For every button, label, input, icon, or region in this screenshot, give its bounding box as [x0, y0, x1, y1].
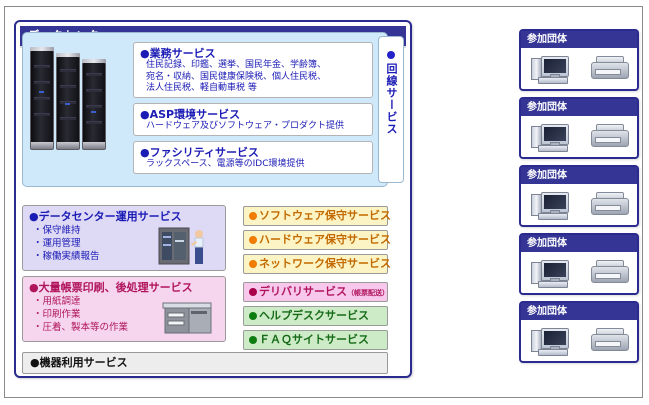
service-bar-software-maintenance-label: ソフトウェア保守サービス [259, 209, 391, 222]
service-card-asp: ●ASP環境サービス ハードウェア及びソフトウェア・プロダクト提供 [133, 103, 373, 136]
bullet-icon [249, 312, 257, 320]
service-bar-delivery-note: （帳票配送） [347, 289, 389, 297]
participant-box-4-devices [521, 252, 637, 293]
operation-box-datacenter-operation-title: ●データセンター運用サービス [29, 210, 219, 224]
equipment-use-service-label: ●機器利用サービス [30, 356, 128, 369]
desktop-computer-icon [531, 54, 571, 84]
participant-box-1-title: 参加団体 [521, 31, 637, 48]
bullet-icon [249, 336, 257, 344]
printer-icon [590, 328, 628, 354]
service-bar-hardware-maintenance-label: ハードウェア保守サービス [259, 233, 391, 246]
bullet-icon [249, 260, 257, 268]
participant-box-3-devices [521, 184, 637, 225]
service-bar-faq-site: ＦＡＱサイトサービス [243, 330, 388, 350]
participant-box-4: 参加団体 [519, 233, 639, 295]
printer-icon [590, 124, 628, 150]
service-bar-software-maintenance: ソフトウェア保守サービス [243, 206, 388, 226]
service-bar-delivery: デリバリサービス（帳票配送） [243, 282, 388, 302]
line-service-bullet-icon [387, 51, 395, 59]
operation-box-mass-printing: ●大量帳票印刷、後処理サービス ・用紙調達 ・印刷作業 ・圧着、製本等の作業 [22, 276, 226, 342]
service-card-facility-title: ●ファシリティサービス [140, 146, 366, 159]
desktop-computer-icon [531, 326, 571, 356]
equipment-use-service-bar: ●機器利用サービス [22, 352, 388, 374]
line-service-strip: 回線サービス [378, 36, 404, 183]
desktop-computer-icon [531, 122, 571, 152]
service-card-asp-line1: ハードウェア及びソフトウェア・プロダクト提供 [140, 121, 366, 133]
line-service-label: 回線サービス [383, 63, 399, 135]
service-card-gyomu-line1: 住民記録、印鑑、選挙、国民年金、学齢簿、 [140, 60, 366, 72]
participant-box-1: 参加団体 [519, 29, 639, 91]
participant-box-4-title: 参加団体 [521, 235, 637, 252]
service-card-facility-line1: ラックスペース、電源等のIDC環境提供 [140, 159, 366, 171]
printer-icon [590, 56, 628, 82]
service-card-gyomu-title: ●業務サービス [140, 47, 366, 60]
service-card-asp-title: ●ASP環境サービス [140, 108, 366, 121]
participant-box-2: 参加団体 [519, 97, 639, 159]
service-card-gyomu: ●業務サービス 住民記録、印鑑、選挙、国民年金、学齢簿、 宛名・収納、国民健康保… [133, 42, 373, 98]
participant-box-2-title: 参加団体 [521, 99, 637, 116]
printer-icon [590, 260, 628, 286]
service-card-gyomu-line2: 宛名・収納、国民健康保険税、個人住民税、 [140, 72, 366, 84]
service-bar-network-maintenance-label: ネットワーク保守サービス [259, 257, 391, 270]
participant-box-2-devices [521, 116, 637, 157]
service-card-gyomu-line3: 法人住民税、軽自動車税 等 [140, 83, 366, 95]
participant-box-1-devices [521, 48, 637, 89]
desktop-computer-icon [531, 258, 571, 288]
participant-box-5-title: 参加団体 [521, 303, 637, 320]
server-operator-icon [157, 224, 217, 266]
printing-machine-icon [157, 295, 217, 337]
participant-box-5: 参加団体 [519, 301, 639, 363]
server-rack-icon [30, 44, 116, 156]
operation-box-datacenter-operation: ●データセンター運用サービス ・保守維持 ・運用管理 ・稼働実績報告 [22, 205, 226, 271]
participant-box-3-title: 参加団体 [521, 167, 637, 184]
bullet-icon [249, 236, 257, 244]
participant-box-3: 参加団体 [519, 165, 639, 227]
service-bar-delivery-label: デリバリサービス [259, 285, 347, 298]
service-bar-helpdesk: ヘルプデスクサービス [243, 306, 388, 326]
service-bar-faq-site-label: ＦＡＱサイトサービス [259, 333, 369, 346]
service-bar-hardware-maintenance: ハードウェア保守サービス [243, 230, 388, 250]
participant-box-5-devices [521, 320, 637, 361]
printer-icon [590, 192, 628, 218]
bullet-icon [249, 212, 257, 220]
service-card-facility: ●ファシリティサービス ラックスペース、電源等のIDC環境提供 [133, 141, 373, 174]
desktop-computer-icon [531, 190, 571, 220]
diagram-root: バック アップ 回線 高知県 情報 ハイウェイ データセンター [0, 0, 649, 405]
operation-box-mass-printing-title: ●大量帳票印刷、後処理サービス [29, 281, 219, 295]
service-bar-network-maintenance: ネットワーク保守サービス [243, 254, 388, 274]
bullet-icon [249, 288, 257, 296]
service-bar-helpdesk-label: ヘルプデスクサービス [259, 309, 369, 322]
